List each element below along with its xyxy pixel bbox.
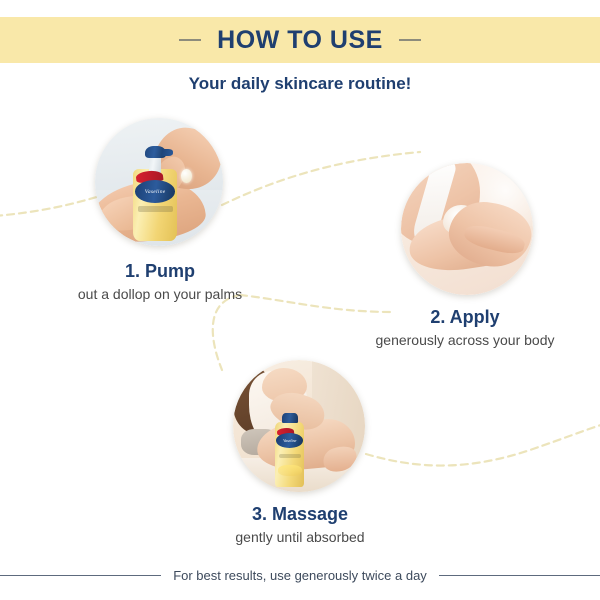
vaseline-pump-bottle: Vaseline xyxy=(133,146,177,241)
footer: For best results, use generously twice a… xyxy=(0,568,600,583)
banner-dash-left-icon xyxy=(179,39,201,41)
brand-name: Vaseline xyxy=(276,433,303,448)
bottle-pump-spout xyxy=(162,149,173,156)
step-3-description: gently until absorbed xyxy=(175,528,425,547)
label-subtext xyxy=(138,206,173,213)
page-title: HOW TO USE xyxy=(217,26,383,55)
brand-label: Vaseline xyxy=(135,180,175,203)
step-1-photo: Vaseline xyxy=(95,118,223,246)
bottle-glow xyxy=(278,465,302,477)
step-1-title: 1. Pump xyxy=(30,260,290,283)
step-2-photo xyxy=(401,163,533,295)
step-3-caption: 3. Massage gently until absorbed xyxy=(175,503,425,546)
step-1-description: out a dollop on your palms xyxy=(30,285,290,304)
step-2-title: 2. Apply xyxy=(340,306,590,329)
step-2-description: generously across your body xyxy=(340,331,590,350)
footer-text: For best results, use generously twice a… xyxy=(173,568,427,583)
brand-label: Vaseline xyxy=(276,433,303,448)
step-3-title: 3. Massage xyxy=(175,503,425,526)
header-banner: HOW TO USE xyxy=(0,17,600,63)
scene-bathroom: Vaseline xyxy=(95,118,223,246)
subtitle: Your daily skincare routine! xyxy=(0,74,600,94)
footer-rule-right xyxy=(439,575,600,576)
scene-massage: Vaseline xyxy=(233,360,365,492)
step-1-caption: 1. Pump out a dollop on your palms xyxy=(30,260,290,303)
footer-rule-left xyxy=(0,575,161,576)
scene-apply xyxy=(401,163,533,295)
step-3-photo: Vaseline xyxy=(233,360,365,492)
brand-name: Vaseline xyxy=(135,180,175,203)
banner-dash-right-icon xyxy=(399,39,421,41)
bottle-cap xyxy=(282,413,298,423)
step-2-caption: 2. Apply generously across your body xyxy=(340,306,590,349)
label-subtext xyxy=(279,454,301,458)
vaseline-lotion-bottle: Vaseline xyxy=(275,413,304,487)
how-to-use-infographic: HOW TO USE Your daily skincare routine! xyxy=(0,0,600,600)
